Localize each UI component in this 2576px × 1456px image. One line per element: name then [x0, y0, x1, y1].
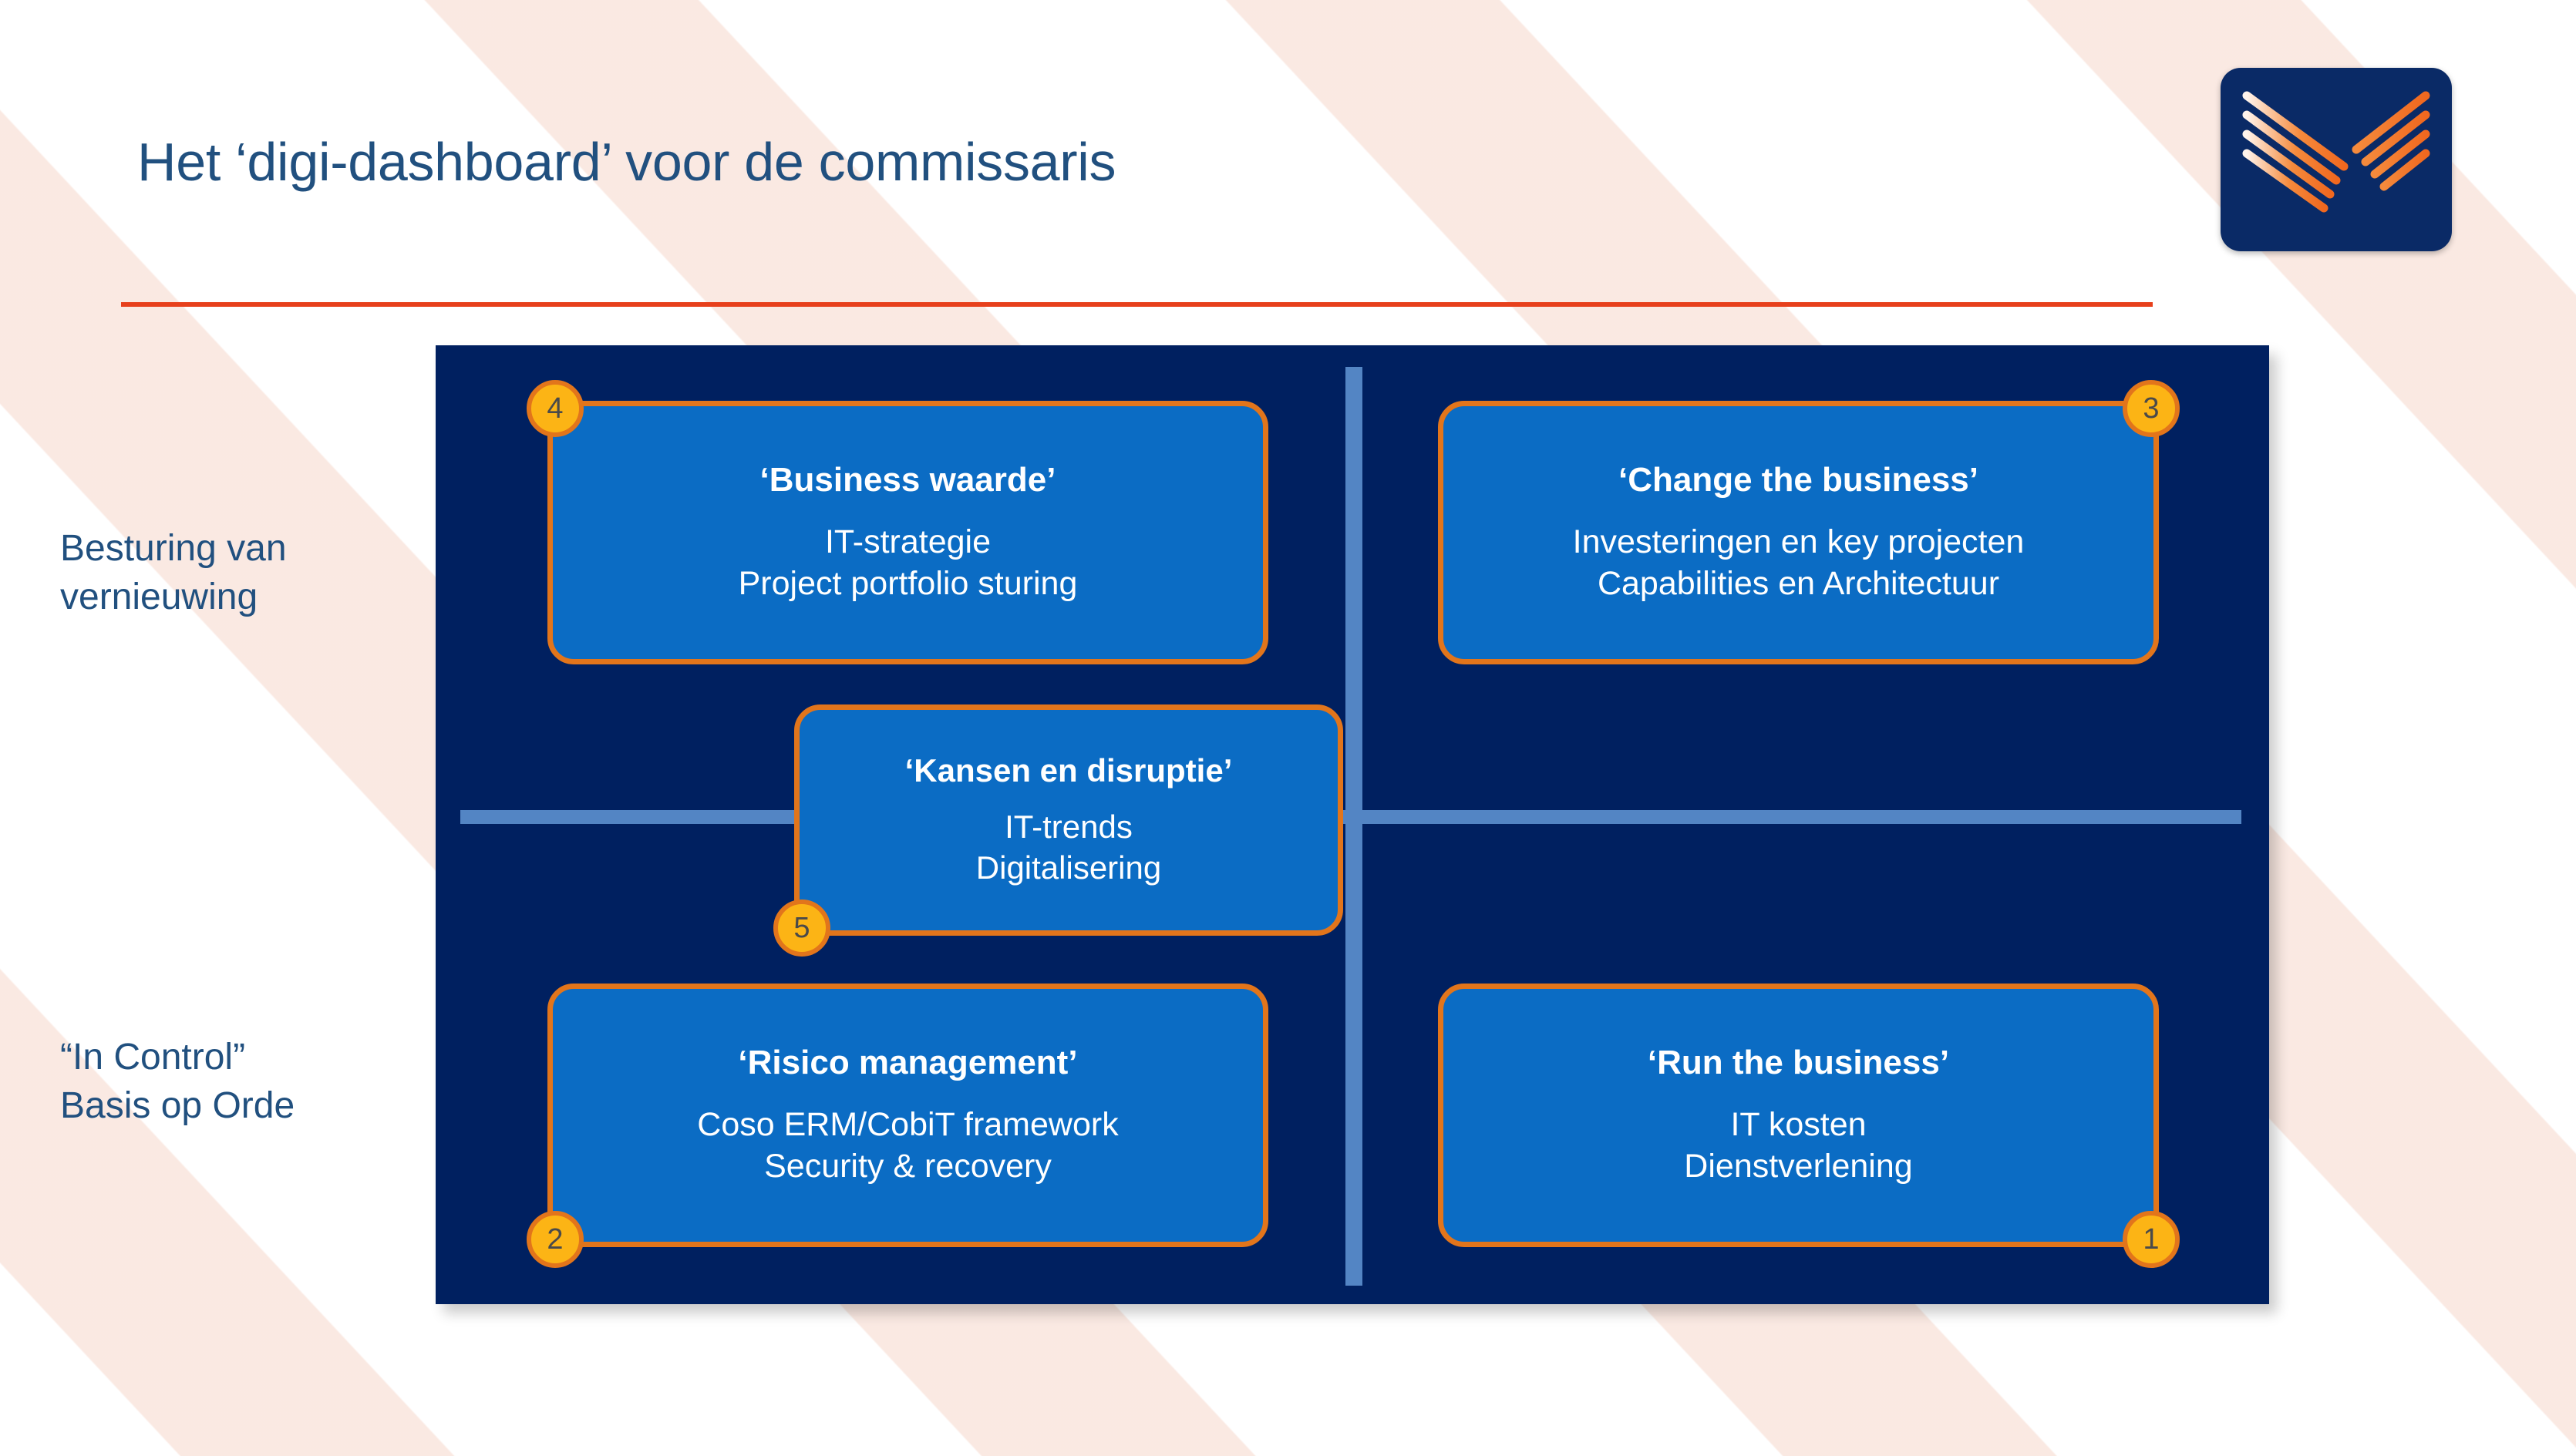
badge-5: 5 — [773, 899, 830, 957]
card-title-kansen-en-disruptie: ‘Kansen en disruptie’ — [905, 752, 1233, 789]
axis-label-governance-line2: vernieuwing — [60, 573, 423, 621]
card-title-run-the-business: ‘Run the business’ — [1648, 1044, 1949, 1081]
card-line: Capabilities en Architectuur — [1573, 563, 2025, 605]
card-business-waarde[interactable]: 4 ‘Business waarde’ IT-strategie Project… — [547, 401, 1268, 664]
brand-logo-icon — [2221, 68, 2452, 251]
badge-4: 4 — [527, 380, 584, 437]
card-body-business-waarde: IT-strategie Project portfolio sturing — [739, 522, 1078, 605]
badge-3: 3 — [2123, 380, 2180, 437]
axis-label-in-control-line2: Basis op Orde — [60, 1081, 423, 1130]
card-body-run-the-business: IT kosten Dienstverlening — [1684, 1105, 1912, 1188]
badge-1: 1 — [2123, 1211, 2180, 1268]
card-run-the-business[interactable]: 1 ‘Run the business’ IT kosten Dienstver… — [1438, 984, 2159, 1247]
card-line: Digitalisering — [976, 848, 1161, 889]
badge-2: 2 — [527, 1211, 584, 1268]
title-divider-rule — [121, 302, 2153, 307]
card-line: IT kosten — [1684, 1105, 1912, 1146]
card-line: Dienstverlening — [1684, 1146, 1912, 1188]
quadrant-divider-horizontal — [460, 810, 2241, 824]
card-title-change-the-business: ‘Change the business’ — [1618, 461, 1978, 499]
card-line: Security & recovery — [697, 1146, 1118, 1188]
page-title: Het ‘digi-dashboard’ voor de commissaris — [137, 129, 1834, 194]
card-kansen-en-disruptie[interactable]: 5 ‘Kansen en disruptie’ IT-trends Digita… — [794, 704, 1343, 936]
axis-label-governance-line1: Besturing van — [60, 524, 423, 573]
card-line: Coso ERM/CobiT framework — [697, 1105, 1118, 1146]
dashboard-panel: 4 ‘Business waarde’ IT-strategie Project… — [436, 345, 2269, 1304]
card-body-change-the-business: Investeringen en key projecten Capabilit… — [1573, 522, 2025, 605]
axis-label-governance: Besturing van vernieuwing — [60, 524, 423, 622]
card-title-business-waarde: ‘Business waarde’ — [760, 461, 1056, 499]
card-line: Project portfolio sturing — [739, 563, 1078, 605]
axis-label-in-control: “In Control” Basis op Orde — [60, 1033, 423, 1131]
card-body-kansen-en-disruptie: IT-trends Digitalisering — [976, 807, 1161, 888]
axis-label-in-control-line1: “In Control” — [60, 1033, 423, 1081]
card-line: Investeringen en key projecten — [1573, 522, 2025, 563]
card-body-risico-management: Coso ERM/CobiT framework Security & reco… — [697, 1105, 1118, 1188]
brand-logo — [2221, 68, 2452, 251]
quadrant-divider-vertical — [1345, 367, 1362, 1286]
card-title-risico-management: ‘Risico management’ — [738, 1044, 1077, 1081]
card-line: IT-strategie — [739, 522, 1078, 563]
card-risico-management[interactable]: 2 ‘Risico management’ Coso ERM/CobiT fra… — [547, 984, 1268, 1247]
card-change-the-business[interactable]: 3 ‘Change the business’ Investeringen en… — [1438, 401, 2159, 664]
card-line: IT-trends — [976, 807, 1161, 848]
